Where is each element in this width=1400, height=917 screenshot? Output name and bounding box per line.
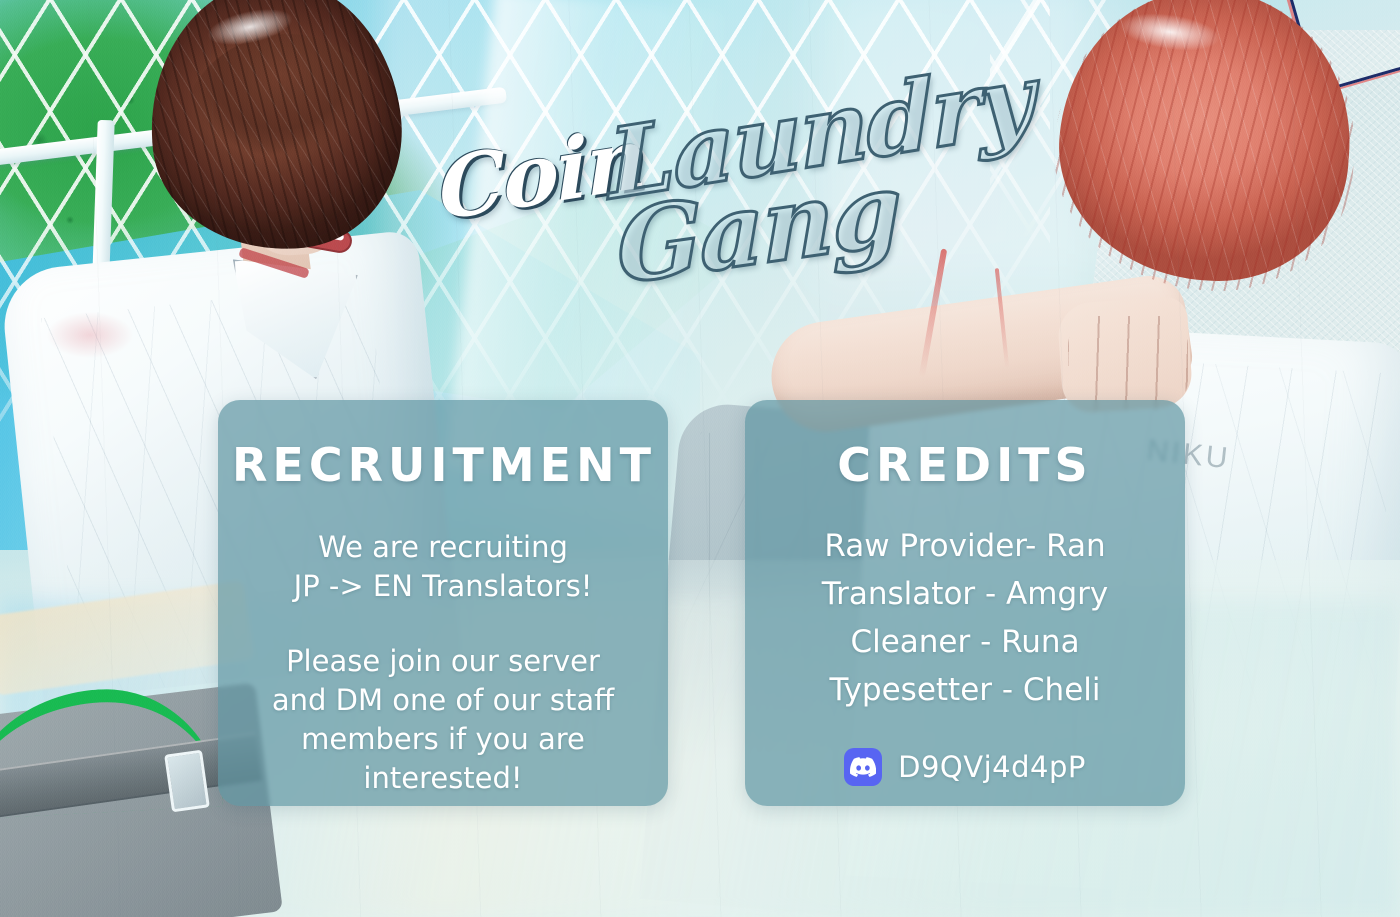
credit-row: Typesetter - Cheli (759, 666, 1171, 714)
discord-invite-row[interactable]: D9QVj4d4pP (759, 748, 1171, 786)
recruitment-paragraph-1: We are recruiting JP -> EN Translators! (232, 528, 654, 606)
discord-icon[interactable] (844, 748, 882, 786)
credits-heading: CREDITS (759, 438, 1171, 492)
left-character-shirt-tint (30, 300, 150, 370)
recruitment-line-1: We are recruiting (232, 528, 654, 567)
recruitment-panel: RECRUITMENT We are recruiting JP -> EN T… (218, 400, 668, 806)
credit-row: Raw Provider- Ran (759, 522, 1171, 570)
recruitment-line-3: Please join our server (232, 642, 654, 681)
recruitment-line-5: members if you are (232, 720, 654, 759)
belt-buckle (164, 750, 210, 813)
recruitment-line-2: JP -> EN Translators! (232, 567, 654, 606)
recruitment-heading: RECRUITMENT (232, 438, 654, 492)
credits-panel: CREDITS Raw Provider- Ran Translator - A… (745, 400, 1185, 806)
credits-list: Raw Provider- Ran Translator - Amgry Cle… (759, 522, 1171, 714)
artwork-canvas: NIKU Coin Laundry Gang RECRUITMENT We ar… (0, 0, 1400, 917)
credit-row: Cleaner - Runa (759, 618, 1171, 666)
recruitment-line-6: interested! (232, 759, 654, 798)
discord-invite-code[interactable]: D9QVj4d4pP (898, 750, 1086, 784)
recruitment-line-4: and DM one of our staff (232, 681, 654, 720)
credit-row: Translator - Amgry (759, 570, 1171, 618)
right-character-fingers (1068, 316, 1188, 410)
recruitment-paragraph-2: Please join our server and DM one of our… (232, 642, 654, 798)
